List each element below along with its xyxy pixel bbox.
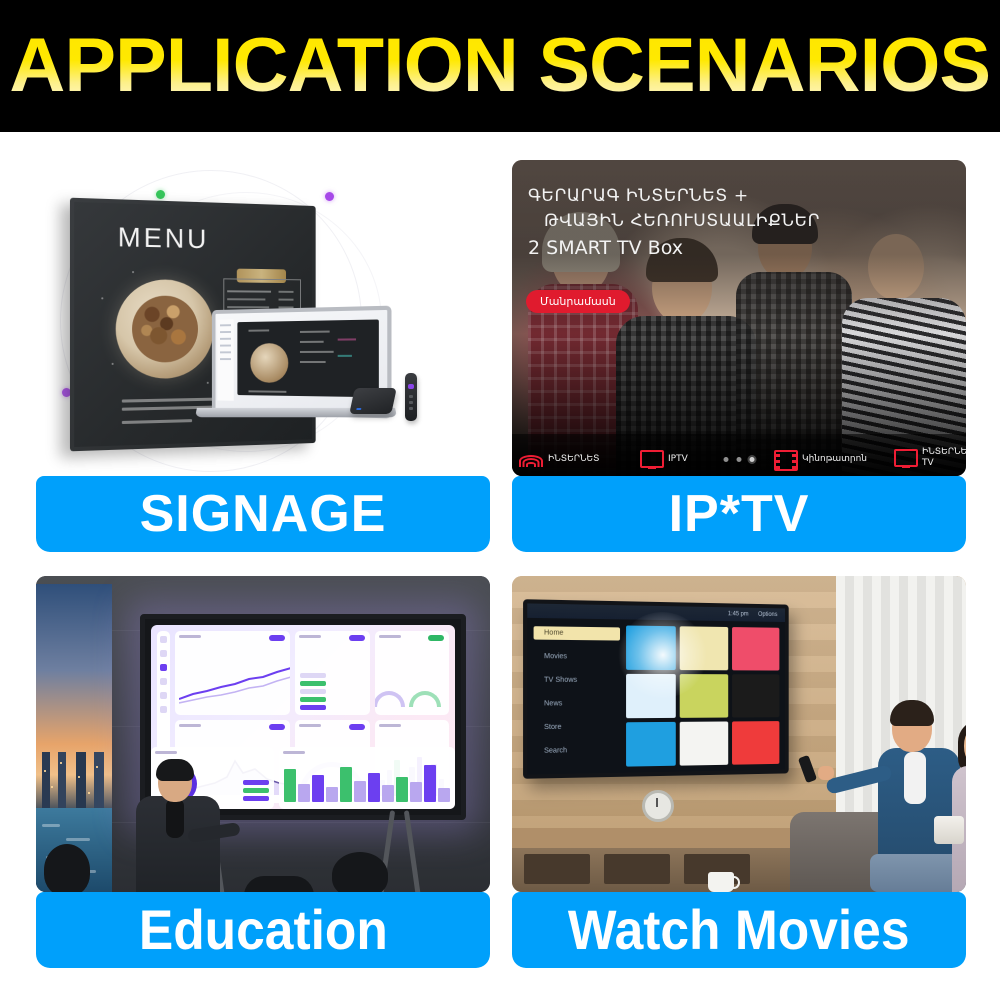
carousel-dots[interactable] <box>724 457 755 462</box>
application-scenarios-page: APPLICATION SCENARIOS MENU <box>0 0 1000 1000</box>
education-image <box>36 576 490 892</box>
tv-console-top <box>512 828 812 848</box>
tv-tile-9[interactable] <box>732 721 779 765</box>
widget-grouped-bars <box>279 747 455 809</box>
accent-dot-purple <box>325 192 334 201</box>
iptv-feature-iptv-label: IPTV <box>668 454 688 464</box>
iptv-headline: ԳԵՐԱՐԱԳ ԻՆՏԵՐՆԵՏ + ԹՎԱՅԻՆ ՀԵՌՈՒՍՏԱԱԼԻՔՆԵ… <box>528 186 954 259</box>
iptv-feature-bar: ԻՆՏԵՐՆԵՏ IPTV Կինոթատրոն <box>512 434 966 476</box>
scenario-grid: MENU <box>36 160 966 968</box>
tv-tile-6[interactable] <box>732 674 779 717</box>
iptv-image: ԳԵՐԱՐԱԳ ԻՆՏԵՐՆԵՏ + ԹՎԱՅԻՆ ՀԵՌՈՒՍՏԱԱԼԻՔՆԵ… <box>512 160 966 476</box>
monitor-tv-icon <box>894 449 916 467</box>
woman-with-popcorn <box>946 724 966 892</box>
iptv-feature-iptv[interactable]: IPTV <box>640 450 688 468</box>
label-watch-movies[interactable]: Watch Movies <box>512 892 966 968</box>
label-education[interactable]: Education <box>36 892 490 968</box>
iptv-headline-line3: 2 SMART TV Box <box>528 237 954 259</box>
tv-menu-item-store[interactable]: Store <box>534 720 620 734</box>
iptv-feature-internet-tv-label: ԻՆՏԵՐՆԵՏ TV <box>922 447 966 468</box>
tv-tile-3[interactable] <box>732 627 779 670</box>
scenario-card-watch-movies[interactable]: 1:45 pm Options Home Movies TV Shows New… <box>512 576 966 968</box>
tv-tile-8[interactable] <box>680 721 728 765</box>
iptv-feature-internet-label: ԻՆՏԵՐՆԵՏ <box>548 454 599 464</box>
accent-dot-green <box>156 190 165 199</box>
tv-tile-7[interactable] <box>626 722 676 767</box>
label-signage-text: SIGNAGE <box>140 488 387 540</box>
iptv-headline-line2: ԹՎԱՅԻՆ ՀԵՌՈՒՍՏԱԱԼԻՔՆԵՐ <box>528 211 954 231</box>
wall-clock <box>642 790 674 822</box>
page-header: APPLICATION SCENARIOS <box>0 0 1000 132</box>
film-icon <box>774 450 796 468</box>
audience-member-2 <box>332 852 388 892</box>
tv-clock: 1:45 pm <box>728 611 749 617</box>
iptv-feature-cinema[interactable]: Կինոթատրոն <box>774 450 867 468</box>
scenario-card-iptv[interactable]: ԳԵՐԱՐԱԳ ԻՆՏԵՐՆԵՏ + ԹՎԱՅԻՆ ՀԵՌՈՒՍՏԱԱԼԻՔՆԵ… <box>512 160 966 552</box>
tv-menu-item-search[interactable]: Search <box>534 744 620 758</box>
scenario-card-signage[interactable]: MENU <box>36 160 490 552</box>
tv-box <box>349 388 397 414</box>
widget-kpi-list <box>295 631 369 715</box>
audience-member-3 <box>244 876 314 892</box>
iptv-feature-cinema-label: Կինոթատրոն <box>802 454 867 464</box>
tv-menu[interactable]: Home Movies TV Shows News Store Search <box>534 626 620 768</box>
iptv-feature-internet[interactable]: ԻՆՏԵՐՆԵՏ <box>520 450 599 468</box>
iptv-headline-line1: ԳԵՐԱՐԱԳ ԻՆՏԵՐՆԵՏ + <box>528 186 954 206</box>
signage-image: MENU <box>0 160 490 476</box>
watch-movies-image: 1:45 pm Options Home Movies TV Shows New… <box>512 576 966 892</box>
monitor-icon <box>640 450 662 468</box>
wifi-icon <box>520 450 542 468</box>
widget-gauge-cluster <box>375 631 449 715</box>
label-iptv[interactable]: IP*TV <box>512 476 966 552</box>
tv-menu-item-home[interactable]: Home <box>534 626 620 640</box>
page-title: APPLICATION SCENARIOS <box>10 28 991 104</box>
popcorn-bowl <box>934 816 964 844</box>
tv-console <box>512 848 812 892</box>
signage-screen-title: MENU <box>118 222 209 255</box>
coffee-mug <box>708 872 734 892</box>
tv-menu-item-tv-shows[interactable]: TV Shows <box>534 674 620 687</box>
tv-options: Options <box>758 612 777 618</box>
iptv-feature-internet-tv[interactable]: ԻՆՏԵՐՆԵՏ TV <box>894 447 966 468</box>
remote-control <box>405 373 417 421</box>
tv-menu-item-news[interactable]: News <box>534 697 620 711</box>
scenario-card-education[interactable]: Education <box>36 576 490 968</box>
label-watch-movies-text: Watch Movies <box>568 902 910 958</box>
label-signage[interactable]: SIGNAGE <box>36 476 490 552</box>
screen-glare <box>618 611 707 698</box>
label-education-text: Education <box>138 902 387 958</box>
tv-menu-item-movies[interactable]: Movies <box>534 650 620 664</box>
label-iptv-text: IP*TV <box>669 488 810 540</box>
presenter <box>132 762 224 892</box>
widget-line-chart <box>175 631 290 715</box>
iptv-details-badge[interactable]: Մանրամասն <box>526 290 630 313</box>
smart-tv: 1:45 pm Options Home Movies TV Shows New… <box>523 599 789 779</box>
audience-member-1 <box>44 844 90 892</box>
